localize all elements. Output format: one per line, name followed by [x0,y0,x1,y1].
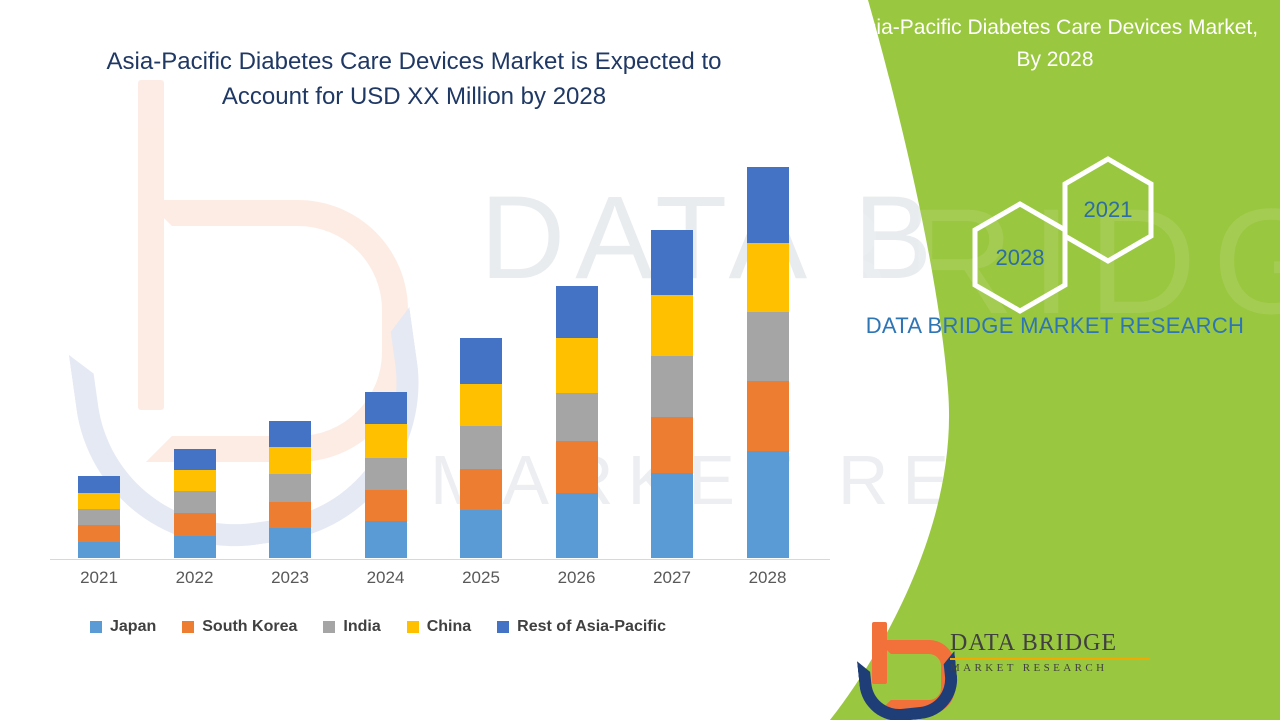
x-axis-line [50,559,830,560]
bar-segment[interactable] [556,393,598,441]
data-bridge-logo: DATA BRIDGE MARKET RESEARCH [830,616,1080,702]
bar-segment[interactable] [174,491,216,513]
stacked-bar[interactable] [556,286,598,558]
x-axis-tick-2028: 2028 [738,568,798,588]
legend-label: India [343,618,380,636]
brand-name-text: DATA BRIDGE MARKET RESEARCH [865,310,1245,342]
bar-segment[interactable] [651,295,693,355]
bar-segment[interactable] [747,167,789,243]
bar-segment[interactable] [365,458,407,490]
legend-swatch-icon [407,621,419,633]
bar-segment[interactable] [365,424,407,458]
legend-item-china[interactable]: China [407,618,471,636]
x-axis-tick-2022: 2022 [165,568,225,588]
right-panel-title: Asia-Pacific Diabetes Care Devices Marke… [850,12,1260,76]
bar-segment[interactable] [78,509,120,525]
bar-segment[interactable] [651,230,693,295]
bar-segment[interactable] [460,384,502,426]
bar-segment[interactable] [556,441,598,492]
logo-wordmark: DATA BRIDGE MARKET RESEARCH [950,630,1180,674]
stacked-bar[interactable] [78,476,120,558]
bar-segment[interactable] [460,338,502,384]
bar-segment[interactable] [269,502,311,529]
bar-segment[interactable] [651,356,693,417]
chart-title: Asia-Pacific Diabetes Care Devices Marke… [64,44,764,114]
stacked-bar[interactable] [651,230,693,558]
bar-segment[interactable] [269,528,311,558]
x-axis-tick-2024: 2024 [356,568,416,588]
bar-segment[interactable] [174,513,216,535]
bar-segment[interactable] [460,510,502,558]
bar-segment[interactable] [174,449,216,470]
bar-segment[interactable] [651,417,693,473]
stacked-bar[interactable] [460,338,502,558]
stacked-bar[interactable] [174,449,216,558]
bar-segment[interactable] [78,542,120,558]
stacked-bar[interactable] [269,421,311,558]
bar-segment[interactable] [78,493,120,509]
legend-label: China [427,618,471,636]
x-axis-tick-2026: 2026 [547,568,607,588]
x-axis-tick-2023: 2023 [260,568,320,588]
logo-divider [950,658,1150,660]
bar-segment[interactable] [78,525,120,541]
x-axis-tick-2027: 2027 [642,568,702,588]
x-axis-labels: 20212022202320242025202620272028 [50,568,830,596]
chart-legend: JapanSouth KoreaIndiaChinaRest of Asia-P… [90,616,692,638]
logo-main-text: DATA BRIDGE [950,630,1180,657]
legend-swatch-icon [182,621,194,633]
logo-mark-icon [860,622,938,696]
legend-label: Rest of Asia-Pacific [517,618,666,636]
legend-swatch-icon [323,621,335,633]
bar-segment[interactable] [365,521,407,558]
hexagon-2028-label: 2028 [968,245,1072,271]
logo-sub-text: MARKET RESEARCH [950,662,1180,674]
bar-segment[interactable] [747,451,789,558]
x-axis-tick-2021: 2021 [69,568,129,588]
stacked-bar[interactable] [365,392,407,558]
legend-label: Japan [110,618,156,636]
bar-segment[interactable] [747,381,789,451]
bar-segment[interactable] [556,493,598,558]
legend-item-rest-of-asia-pacific[interactable]: Rest of Asia-Pacific [497,618,666,636]
bar-segment[interactable] [78,476,120,492]
bar-segment[interactable] [174,536,216,558]
bar-segment[interactable] [556,338,598,393]
bar-segment[interactable] [269,447,311,475]
bar-segment[interactable] [460,469,502,510]
bar-segment[interactable] [460,426,502,469]
green-panel-shape [830,0,1280,720]
bar-segment[interactable] [365,490,407,522]
legend-swatch-icon [90,621,102,633]
chart-plot-area [50,150,830,560]
x-axis-tick-2025: 2025 [451,568,511,588]
infographic-canvas: DATA BRIDGE MARKET RESEARCH Asia-Pacific… [0,0,1280,720]
legend-item-india[interactable]: India [323,618,380,636]
bar-segment[interactable] [651,473,693,558]
bar-segment[interactable] [747,243,789,312]
legend-item-japan[interactable]: Japan [90,618,156,636]
hexagon-2021-label: 2021 [1058,197,1158,223]
hexagon-2028: 2028 [968,200,1072,315]
bar-segment[interactable] [556,286,598,338]
legend-swatch-icon [497,621,509,633]
stacked-bar[interactable] [747,167,789,558]
bar-segment[interactable] [365,392,407,424]
legend-item-south-korea[interactable]: South Korea [182,618,297,636]
bar-segment[interactable] [269,421,311,447]
stacked-bar-group [50,150,830,559]
bar-segment[interactable] [747,312,789,382]
bar-segment[interactable] [174,470,216,490]
legend-label: South Korea [202,618,297,636]
right-brand-panel: BRIDGE Asia-Pacific Diabetes Care Device… [830,0,1280,720]
hexagon-2021: 2021 [1058,155,1158,265]
bar-segment[interactable] [269,474,311,502]
